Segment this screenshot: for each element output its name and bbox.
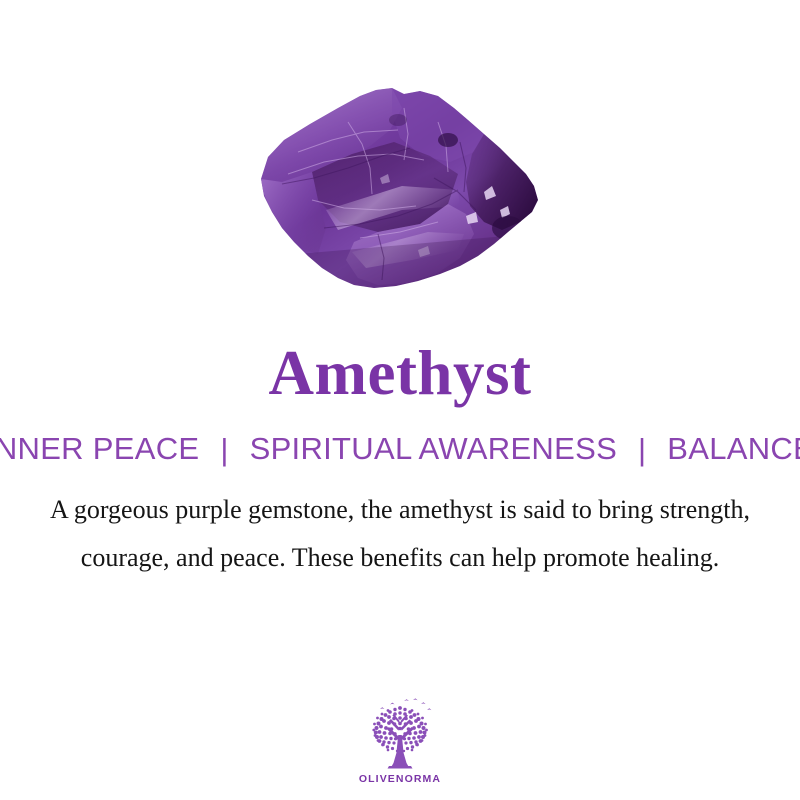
keyword-spiritual-awareness: SPIRITUAL AWARENESS: [250, 431, 617, 466]
amethyst-crystal-icon: [252, 82, 552, 294]
brand-logo: OLIVENORMA: [345, 697, 455, 785]
tree-icon: [359, 697, 441, 771]
hero-image-area: [0, 0, 800, 318]
keyword-separator: |: [208, 434, 240, 465]
keyword-separator: |: [626, 434, 658, 465]
logo-wordmark: OLIVENORMA: [359, 774, 441, 785]
keyword-balance: BALANCE: [667, 431, 800, 466]
keyword-line: INNER PEACE | SPIRITUAL AWARENESS | BALA…: [0, 405, 800, 464]
amethyst-stone-image: [252, 82, 552, 294]
keyword-inner-peace: INNER PEACE: [0, 431, 199, 466]
amethyst-info-card: Amethyst INNER PEACE | SPIRITUAL AWARENE…: [0, 0, 800, 800]
description-text: A gorgeous purple gemstone, the amethyst…: [50, 464, 750, 582]
page-title: Amethyst: [269, 318, 532, 405]
